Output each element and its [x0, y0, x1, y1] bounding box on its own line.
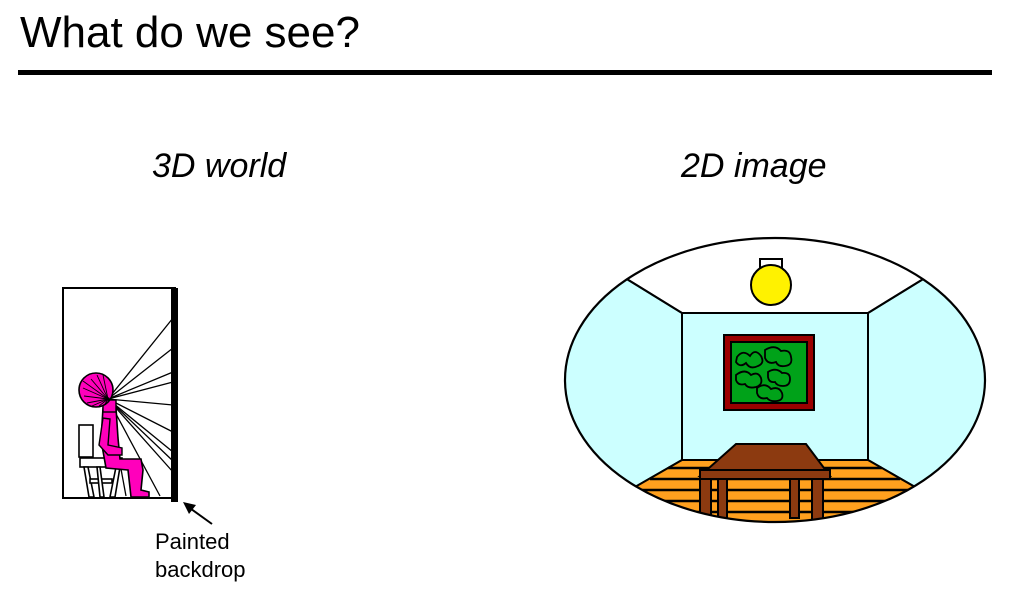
lamp-bulb — [751, 265, 791, 305]
table-apron — [700, 470, 830, 479]
slide-canvas: What do we see? 3D world 2D image — [0, 0, 1012, 614]
table-leg-front-left — [700, 478, 711, 531]
table-leg-back-left — [718, 478, 727, 518]
right-scene-2d-image — [0, 0, 1012, 614]
table-leg-back-right — [790, 478, 799, 518]
table-leg-front-right — [812, 478, 823, 531]
framed-painting — [724, 335, 814, 410]
room-interior — [560, 230, 990, 531]
